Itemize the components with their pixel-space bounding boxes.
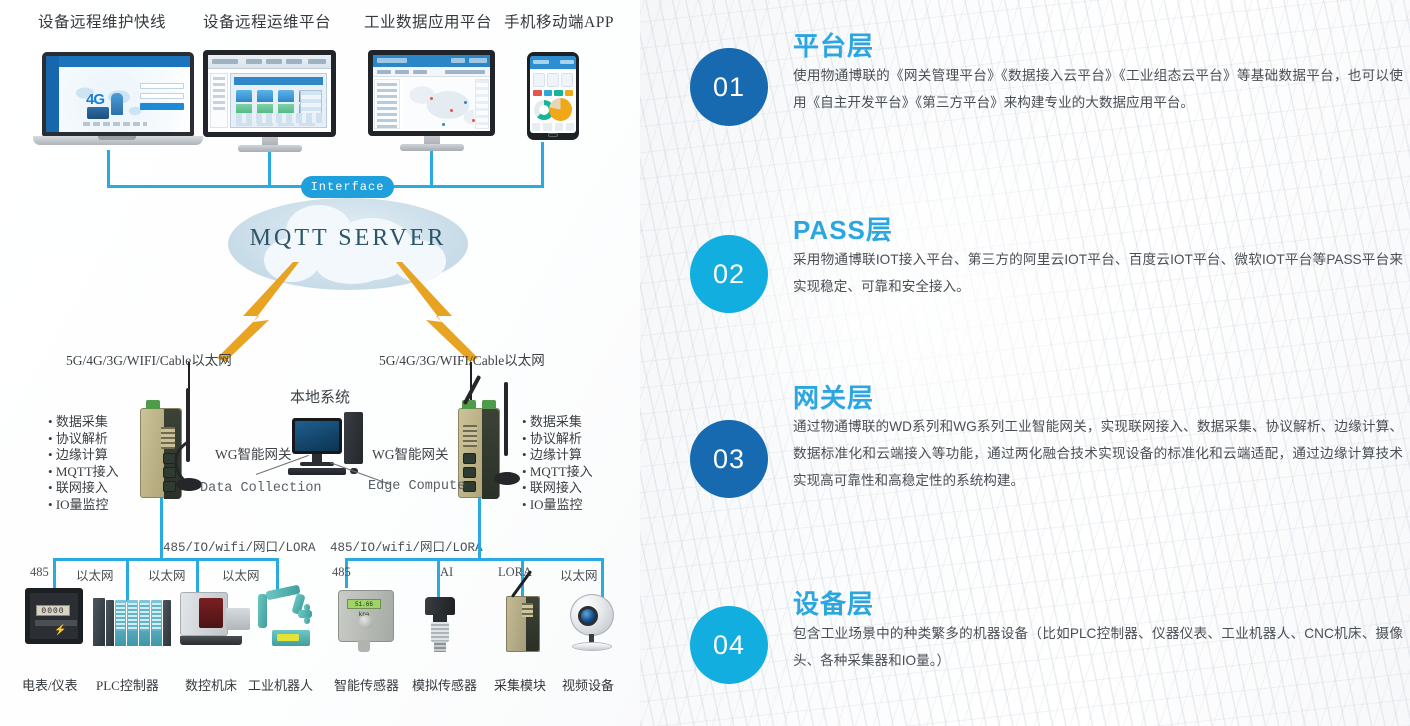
screen4-bottom-nav: [532, 123, 574, 131]
infographic-root: 设备远程维护快线 设备远程运维平台 工业数据应用平台 手机移动端APP 4G: [0, 0, 1410, 726]
wire-monitor3-down: [430, 151, 433, 187]
screen1-login-form: [140, 83, 184, 110]
screen3-tool-2: [395, 70, 409, 74]
wire-to-camera: [601, 558, 604, 598]
plc-power-module: [106, 600, 114, 646]
analog-sensor-head: [425, 597, 455, 615]
top-label-remote-maintenance: 设备远程维护快线: [38, 10, 166, 32]
link-label-ethernet-c: 以太网: [222, 565, 260, 584]
screen2-tree-item: [213, 95, 225, 98]
caption-industrial-robot: 工业机器人: [248, 675, 313, 694]
screen4-status: [560, 60, 574, 64]
camera-foot: [572, 642, 612, 651]
screen2-tree-item: [213, 89, 225, 92]
screen2-tree-item: [213, 83, 225, 86]
screen2-menu-1: [246, 59, 262, 64]
laptop-screen: 4G: [42, 52, 194, 136]
section-01-number-badge: 01: [690, 48, 768, 126]
gateway-right-dark-panel: [482, 409, 499, 499]
feature-item: 协议解析: [522, 431, 593, 448]
wire-to-meter: [53, 558, 56, 588]
wire-right-gw-down: [478, 498, 481, 560]
device-cnc-machine: [180, 592, 252, 646]
screen3-china-map: [402, 79, 474, 129]
phone-home-button: [548, 133, 558, 137]
section-03-number-badge: 03: [690, 420, 768, 498]
screen1-topbar: [59, 56, 190, 67]
analog-sensor-body: [431, 622, 449, 642]
screen4-chip-row: [533, 90, 573, 96]
link-label-ethernet-b: 以太网: [148, 565, 186, 584]
feature-item: 数据采集: [522, 414, 593, 431]
link-label-ai: AI: [440, 565, 453, 580]
monitor2-foot: [238, 145, 302, 152]
section-04-title: 设备层: [793, 584, 874, 621]
screen4-chip: [554, 90, 563, 96]
meter-digits: 0000: [36, 605, 70, 616]
screen4-card: [561, 73, 573, 87]
caption-cnc-machine: 数控机床: [185, 675, 237, 694]
screen1-user-field: [140, 83, 184, 89]
section-03-body: 通过物通博联的WD系列和WG系列工业智能网关，实现联网接入、数据采集、协议解析、…: [793, 413, 1403, 494]
feature-item: 协议解析: [48, 431, 119, 448]
screen4-chip: [565, 90, 574, 96]
screen4-card: [533, 73, 545, 87]
plc-io-module: [127, 600, 138, 646]
device-electric-meter: 0000 ⚡: [25, 588, 83, 644]
gateway-left-role: Data Collection: [200, 481, 322, 496]
robot-gripper-finger: [304, 604, 310, 611]
top-label-mobile-app: 手机移动端APP: [504, 10, 614, 32]
interface-pill: Interface: [301, 176, 394, 198]
screen-mobile-app: [530, 56, 576, 133]
screen4-card: [547, 73, 559, 87]
link-label-485-b: 485: [332, 565, 351, 580]
screen-remote-maintenance: 4G: [46, 56, 190, 132]
top-label-data-app-platform: 工业数据应用平台: [364, 10, 492, 32]
local-pc-neck: [312, 454, 322, 462]
meter-face: 0000 ⚡: [30, 593, 78, 639]
monitor3-frame: [368, 50, 495, 136]
plc-cpu-module: [93, 598, 105, 646]
section-02-title: PASS层: [793, 210, 893, 247]
section-04-number-badge: 04: [690, 606, 768, 684]
monitor2-frame: [203, 50, 336, 137]
screen3-user: [451, 58, 465, 63]
local-pc-keyboard: [288, 468, 346, 475]
top-label-remote-ops-platform: 设备远程运维平台: [203, 10, 331, 32]
link-label-ethernet-a: 以太网: [76, 565, 114, 584]
gateway-right-name: WG智能网关: [372, 443, 449, 463]
screen2-menu-2: [266, 59, 282, 64]
screen4-nav-item: [566, 123, 574, 131]
screen2-scada-canvas: [230, 73, 327, 128]
section-03-title: 网关层: [793, 378, 874, 415]
device-analog-sensor: [423, 597, 457, 653]
cnc-door: [199, 598, 223, 628]
device-plc-controller: [93, 596, 171, 646]
wire-monitor2-down: [268, 152, 271, 187]
screen3-list-item: [377, 113, 397, 116]
screen2-topbar: [208, 55, 331, 69]
caption-plc-controller: PLC控制器: [96, 675, 159, 694]
gateway-left-feature-list: 数据采集 协议解析 边缘计算 MQTT接入 联网接入 IO量监控: [48, 414, 119, 513]
screen1-pass-field: [140, 93, 184, 99]
screen3-list-item: [377, 89, 397, 92]
screen1-4g-badge: 4G: [86, 91, 104, 108]
screen3-list-item: [377, 107, 397, 110]
screen4-stat-cards: [533, 73, 573, 87]
screen3-device-list: [374, 79, 400, 129]
screen3-actions: [469, 58, 487, 63]
bus-label-left: 485/IO/wifi/网口/LORA: [163, 536, 316, 555]
caption-analog-sensor: 模拟传感器: [412, 675, 477, 694]
screen3-list-item: [377, 101, 397, 104]
local-pc-tower: [344, 412, 363, 464]
gateway-left-antenna-cable: [168, 440, 204, 486]
cnc-base: [180, 636, 242, 645]
gateway-right-leds: [463, 425, 477, 447]
local-pc-monitor: [292, 418, 342, 454]
screen3-list-item: [377, 83, 397, 86]
laptop-notch: [98, 136, 136, 140]
lightning-bolt-left: [165, 262, 305, 362]
acq-module-leds: [522, 603, 533, 617]
smart-sensor-lcd: 51.66 kpa: [347, 599, 381, 609]
plc-io-module: [115, 600, 126, 646]
screen1-device-graphic: [87, 107, 109, 119]
meter-bolt-icon: ⚡: [54, 625, 66, 636]
screen3-tool-3: [413, 70, 427, 74]
plc-io-module: [139, 600, 150, 646]
screen4-chip: [544, 90, 553, 96]
screen1-body: 4G: [59, 67, 190, 132]
cnc-arm: [226, 608, 250, 630]
screen4-nav-item: [555, 123, 563, 131]
robot-gripper-finger: [304, 617, 310, 624]
gateway-right-port: [463, 467, 476, 478]
gateway-left-name: WG智能网关: [215, 443, 292, 463]
feature-item: MQTT接入: [522, 464, 593, 481]
screen3-logo: [377, 58, 407, 63]
screen4-chip: [533, 90, 542, 96]
feature-item: MQTT接入: [48, 464, 119, 481]
screen2-tree-item: [213, 107, 225, 110]
section-02-body: 采用物通博联IOT接入平台、第三方的阿里云IOT平台、百度云IOT平台、微软IO…: [793, 246, 1403, 300]
gateway-right-terminal: [482, 400, 496, 409]
feature-item: IO量监控: [48, 497, 119, 514]
caption-acq-module: 采集模块: [494, 675, 546, 694]
screen4-nav-item: [543, 123, 551, 131]
device-industrial-robot: [252, 588, 314, 646]
cloud-puff: [316, 248, 388, 284]
link-label-ethernet-d: 以太网: [560, 565, 598, 584]
network-label-right: 5G/4G/3G/WIFI/Cable以太网: [379, 349, 545, 369]
map-marker: [450, 109, 453, 112]
device-acquisition-module: [506, 596, 540, 652]
gateway-left-terminal: [146, 400, 160, 409]
screen1-sidebar: [46, 56, 59, 132]
gateway-right-port: [463, 453, 476, 464]
screen4-pie-chart: [549, 98, 572, 121]
cnc-body: [180, 592, 228, 636]
screen4-topbar: [530, 56, 576, 69]
device-smart-sensor: 51.66 kpa: [338, 590, 394, 642]
screen4-nav-item: [532, 123, 540, 131]
caption-electric-meter: 电表/仪表: [22, 675, 78, 694]
gateway-right-feature-list: 数据采集 协议解析 边缘计算 MQTT接入 联网接入 IO量监控: [522, 414, 593, 513]
screen3-tool-1: [377, 70, 391, 74]
screen-scada: [208, 55, 331, 132]
feature-item: 边缘计算: [522, 447, 593, 464]
screen1-person-graphic: [111, 93, 123, 115]
feature-item: 数据采集: [48, 414, 119, 431]
local-system-label: 本地系统: [290, 386, 350, 407]
feature-item: 联网接入: [48, 480, 119, 497]
screen3-list-item: [377, 119, 397, 122]
screen2-tree-panel: [210, 73, 228, 128]
screen2-tree-item: [213, 101, 225, 104]
monitor3-foot: [400, 144, 464, 151]
camera-lens: [578, 606, 598, 626]
screen2-logo: [212, 59, 238, 64]
wire-left-bus: [53, 558, 278, 561]
smart-sensor-knob: [359, 615, 373, 629]
screen3-right-panel: [475, 79, 489, 129]
smart-sensor-stem: [358, 640, 370, 652]
caption-smart-sensor: 智能传感器: [334, 675, 399, 694]
gateway-right-antenna: [504, 382, 508, 456]
section-01-title: 平台层: [793, 26, 874, 63]
screen3-topbar: [373, 55, 490, 67]
screen1-footer-text: [83, 122, 147, 126]
caption-video-device: 视频设备: [562, 675, 614, 694]
screen4-title: [533, 60, 549, 64]
screen2-menu-3: [286, 59, 302, 64]
link-label-485-a: 485: [30, 565, 49, 580]
screen2-bottom-strip: [236, 113, 322, 123]
section-02-number-badge: 02: [690, 235, 768, 313]
map-marker: [442, 123, 445, 126]
mqtt-server-label: MQTT SERVER: [228, 225, 468, 252]
screen3-search-field: [445, 70, 485, 74]
map-marker: [464, 101, 467, 104]
screen2-tree-item: [213, 77, 225, 80]
plc-end-module: [163, 600, 171, 646]
wire-laptop-down: [107, 150, 110, 187]
bus-label-right: 485/IO/wifi/网口/LORA: [330, 536, 483, 555]
screen3-list-item: [377, 95, 397, 98]
section-04-body: 包含工业场景中的种类繁多的机器设备（比如PLC控制器、仪器仪表、工业机器人、CN…: [793, 620, 1403, 674]
layer-sections-panel: 01 平台层 使用物通博联的《网关管理平台》《数据接入云平台》《工业组态云平台》…: [690, 0, 1410, 726]
screen2-menu-4: [308, 59, 326, 64]
analog-sensor-thread: [434, 641, 446, 652]
screen3-list-item: [377, 125, 397, 128]
lightning-bolt-right: [390, 262, 530, 362]
feature-item: 边缘计算: [48, 447, 119, 464]
gateway-right-antenna-base: [494, 472, 520, 485]
phone-frame: [527, 52, 579, 140]
wire-phone-down: [541, 142, 544, 187]
robot-control-panel: [272, 630, 310, 646]
robot-lower-arm: [258, 594, 267, 628]
gateway-right-role: Edge Compute: [368, 479, 465, 494]
screen-data-platform: [373, 55, 490, 131]
screen1-login-button: [140, 103, 184, 110]
local-pc-screen: [295, 421, 339, 451]
feature-item: 联网接入: [522, 480, 593, 497]
feature-item: IO量监控: [522, 497, 593, 514]
screen3-toolbar: [373, 67, 490, 77]
network-label-left: 5G/4G/3G/WIFI/Cable以太网: [66, 349, 232, 369]
screen2-title-bar: [234, 77, 323, 85]
wire-left-gw-down: [160, 498, 163, 560]
plc-io-module: [151, 600, 162, 646]
wire-right-bus: [345, 558, 603, 561]
map-marker: [430, 97, 433, 100]
section-01-body: 使用物通博联的《网关管理平台》《数据接入云平台》《工业组态云平台》等基础数据平台…: [793, 62, 1403, 116]
